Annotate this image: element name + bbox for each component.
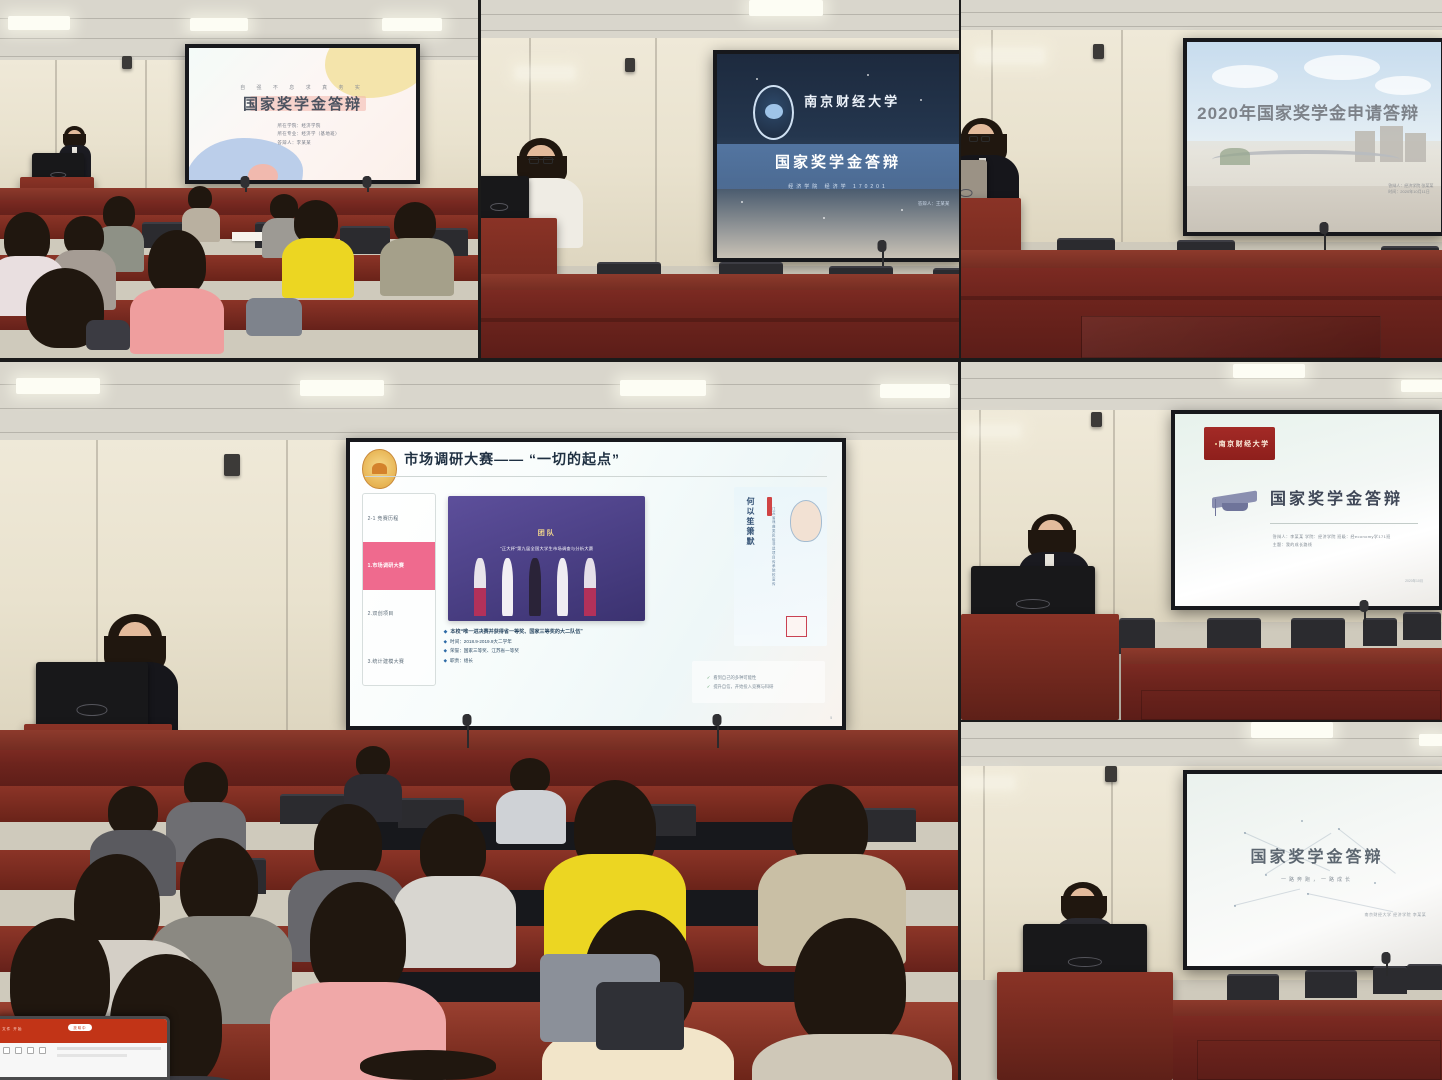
podium-monitor [1023,924,1147,978]
slide-subtitle: 经济学院 经济学 170201 [717,183,959,190]
slide-market-research-competition: 市场调研大赛—— “一切的起点” 2-1 竞赛历程 1.市场调研大赛 2.双创项… [350,442,842,726]
slide-eyebrow: 自 强 不 息 求 真 务 实 [189,84,416,91]
bullet-item: ◆职责：组长 [443,656,694,665]
microphone [712,714,722,748]
slide-cap-scholarship: 南京财经大学 国家奖学金答辩 答辩人：李某某 学院：经济学院 班级：经econo… [1175,414,1439,606]
competition-team-photo: 团队 “正大杯”第九届全国大学生市场调查与分析大赛 [448,496,645,621]
slide-organization: 南京财经大学 经济学院 李某某 [1364,912,1426,918]
ceiling-light [382,18,442,31]
ceiling-light [880,384,950,398]
ceiling-light [190,18,248,31]
bullet-text: 本校“唯一进决赛并获得省一等奖、国家三等奖的大二队伍” [450,629,582,635]
slide-title: 国家奖学金答辩 [1187,843,1442,867]
ppt-workspace[interactable] [0,1043,167,1077]
slide-title: 国家奖学金答辩 [189,93,416,114]
microphone [240,176,249,192]
takeaway-text: 提升自信，开始投入竞赛与科研 [713,684,773,689]
panel-middle-right: 南京财经大学 国家奖学金答辩 答辩人：李某某 学院：经济学院 班级：经econo… [961,362,1442,720]
ppt-tabs[interactable]: 文件 开始 [2,1027,22,1032]
slide-date: 2020年10月 [1405,578,1423,583]
slide-meta-line: 时间：2020年10月11日 [1388,189,1433,196]
microphone [462,714,472,748]
slide-meta-line: 答辩人：李某某 [278,139,340,147]
university-name: 南京财经大学 [1219,439,1270,449]
projection-screen: 自 强 不 息 求 真 务 实 国家奖学金答辩 所在学院：经济学院 所在专业：经… [185,44,420,184]
ceiling-light [1419,734,1442,746]
slide-meta: 所在学院：经济学院 所在专业：经济学（基地班） 答辩人：李某某 [278,122,340,147]
slide-takeaways: ✓看到自己的多种可能性 ✓提升自信，开始投入竞赛与科研 [692,661,825,704]
photo-collage: 自 强 不 息 求 真 务 实 国家奖学金答辩 所在学院：经济学院 所在专业：经… [0,0,1442,1080]
poster-subtitle: 江苏省戏曲类民俗非遗项目传承院校宣传 [771,507,776,586]
poster-title: 何以笙箫默 [745,497,756,547]
university-seal-icon [1215,443,1217,445]
ceiling-light [620,380,706,396]
panel-top-left: 自 强 不 息 求 真 务 实 国家奖学金答辩 所在学院：经济学院 所在专业：经… [0,0,478,358]
wall-speaker-icon [122,56,132,69]
podium-monitor [36,662,148,730]
slide-meta-line: 所在学院：经济学院 [278,122,340,130]
slide-title: 2020年国家奖学金申请答辩 [1197,99,1441,124]
projection-screen: 南京财经大学 国家奖学金答辩 答辩人：李某某 学院：经济学院 班级：经econo… [1171,410,1442,610]
poster-graphic: 何以笙箫默 江苏省戏曲类民俗非遗项目传承院校宣传 [734,487,827,646]
slide-meta: 答辩人：经济学院 张某某 时间：2020年10月11日 [1388,183,1433,197]
opera-figure-icon [790,500,822,541]
microphone [362,176,371,192]
slide-meta-line: 所在专业：经济学（基地班） [278,130,340,138]
slide-meta: 答辩人：李某某 学院：经济学院 班级：经economy学171班 主题：我的成长… [1273,533,1391,549]
slide-title: 市场调研大赛—— “一切的起点” [404,449,620,469]
slide-title: 国家奖学金答辩 [1270,485,1403,509]
podium [961,614,1119,720]
ceiling-light [1233,364,1305,378]
microphone [1381,952,1390,976]
panel-top-right: 2020年国家奖学金申请答辩 答辩人：经济学院 张某某 时间：2020年10月1… [961,0,1442,358]
bullet-item: ◆本校“唯一进决赛并获得省一等奖、国家三等奖的大二队伍” [443,627,694,637]
ceiling-light [300,380,384,396]
slide-pastel-scholarship: 自 强 不 息 求 真 务 实 国家奖学金答辩 所在学院：经济学院 所在专业：经… [189,48,416,180]
wall-speaker-icon [1091,412,1102,427]
slide-nav-item[interactable]: 2-1 竞赛历程 [363,494,435,542]
slide-navy-university: 南京财经大学 国家奖学金答辩 经济学院 经济学 170201 答辩人：王某某 [717,54,959,258]
projection-screen: 国家奖学金答辩 一路奔跑，一路成长 南京财经大学 经济学院 李某某 [1183,770,1442,970]
takeaway-text: 看到自己的多种可能性 [713,675,756,680]
slide-campus-photo: 2020年国家奖学金申请答辩 答辩人：经济学院 张某某 时间：2020年10月1… [1187,42,1441,232]
microphone [1319,222,1328,250]
slide-nav-item[interactable]: 3.统计建模大赛 [363,637,435,685]
university-banner: 南京财经大学 [1204,427,1275,460]
bullet-text: 职责：组长 [450,658,473,663]
university-seal-icon [362,449,396,489]
bullet-item: ◆荣誉：国家三等奖、江苏省一等奖 [443,646,694,655]
bullet-text: 时间：2018.9-2019.9大二学年 [450,639,512,644]
wall-speaker-icon [1105,766,1117,782]
slide-page-number: 5 [830,716,832,720]
ppt-title-chip: 放映中 [68,1024,91,1031]
panel-bottom-right: 国家奖学金答辩 一路奔跑，一路成长 南京财经大学 经济学院 李某某 [961,722,1442,1080]
university-name: 南京财经大学 [804,91,900,110]
university-seal-icon [753,85,794,140]
podium-monitor [481,176,529,220]
slide-bullets: ◆本校“唯一进决赛并获得省一等奖、国家三等奖的大二队伍” ◆时间：2018.9-… [443,627,694,666]
slide-nav-item[interactable]: 2.双创项目 [363,590,435,638]
takeaway-item: ✓看到自己的多种可能性 [707,673,810,682]
ceiling-light [16,378,100,394]
slide-nav: 2-1 竞赛历程 1.市场调研大赛 2.双创项目 3.统计建模大赛 [362,493,436,686]
slide-title: 国家奖学金答辩 [717,151,959,172]
panel-center-large: 市场调研大赛—— “一切的起点” 2-1 竞赛历程 1.市场调研大赛 2.双创项… [0,362,958,1080]
projection-screen-main: 市场调研大赛—— “一切的起点” 2-1 竞赛历程 1.市场调研大赛 2.双创项… [346,438,846,730]
projection-screen: 2020年国家奖学金申请答辩 答辩人：经济学院 张某某 时间：2020年10月1… [1183,38,1442,236]
ceiling-light [1401,380,1442,392]
photo-caption: “正大杯”第九届全国大学生市场调查与分析大赛 [448,546,645,552]
projection-screen: 南京财经大学 国家奖学金答辩 经济学院 经济学 170201 答辩人：王某某 [713,50,959,262]
wall-speaker-icon [224,454,240,476]
slide-meta-line: 答辩人：李某某 学院：经济学院 班级：经economy学171班 [1273,533,1391,541]
podium-monitor [971,566,1095,620]
slide-meta-line: 主题：我的成长路线 [1273,541,1391,549]
graduation-cap-icon [1212,487,1257,518]
photo-award-label: 团队 [448,528,645,538]
wall-speaker-icon [1093,44,1104,59]
bullet-item: ◆时间：2018.9-2019.9大二学年 [443,637,694,646]
slide-nav-item-active[interactable]: 1.市场调研大赛 [363,542,435,590]
podium [997,972,1173,1080]
ceiling-light [1251,722,1333,738]
panel-top-middle: 南京财经大学 国家奖学金答辩 经济学院 经济学 170201 答辩人：王某某 [481,0,959,358]
bullet-text: 荣誉：国家三等奖、江苏省一等奖 [450,648,519,653]
slide-network-scholarship: 国家奖学金答辩 一路奔跑，一路成长 南京财经大学 经济学院 李某某 [1187,774,1442,966]
ceiling-light [749,0,823,16]
ppt-ribbon [0,1019,167,1043]
wall-speaker-icon [625,58,635,72]
microphone [877,240,886,266]
slide-subtitle: 一路奔跑，一路成长 [1187,876,1442,883]
laptop-powerpoint[interactable]: 文件 开始 放映中 [0,1016,170,1080]
slide-presenter: 答辩人：王某某 [918,201,950,207]
takeaway-item: ✓提升自信，开始投入竞赛与科研 [707,682,810,691]
ceiling-light [8,16,70,30]
microphone [1359,600,1368,626]
